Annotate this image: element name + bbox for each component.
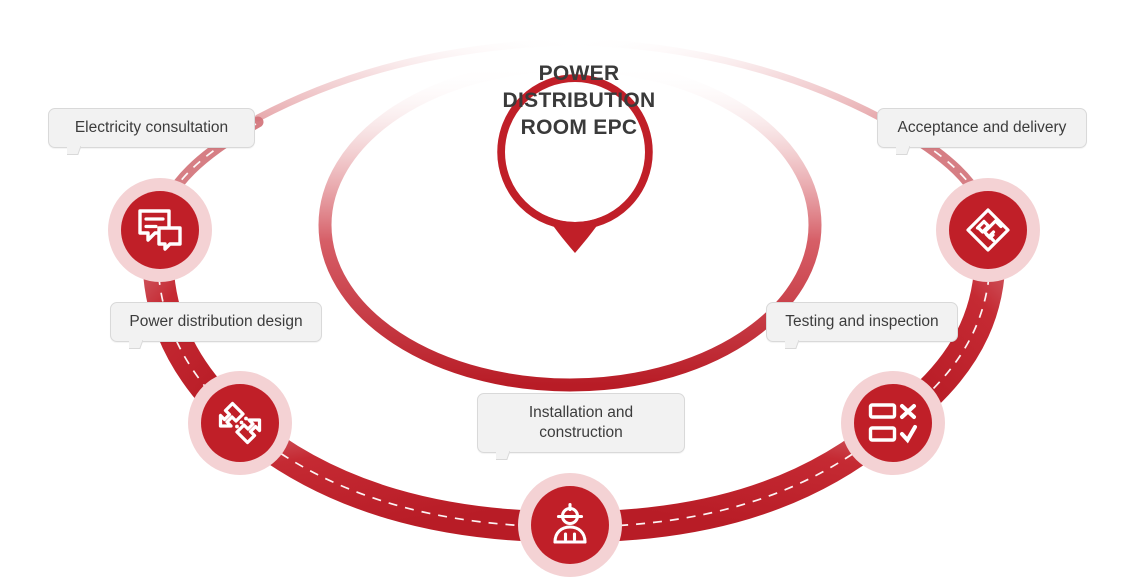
label-installation-construction[interactable]: Installation and construction (477, 393, 685, 453)
step-node-acceptance-delivery[interactable] (936, 178, 1040, 282)
label-electricity-consultation[interactable]: Electricity consultation (48, 108, 255, 148)
step-node-power-distribution-design[interactable] (188, 371, 292, 475)
label-text: Testing and inspection (785, 313, 938, 330)
label-text: Installation and construction (529, 404, 633, 441)
label-text: Power distribution design (129, 313, 302, 330)
callout-tail (496, 451, 510, 471)
callout-tail (67, 146, 81, 166)
step-node-testing-inspection[interactable] (841, 371, 945, 475)
callout-tail (129, 340, 143, 360)
step-node-installation-construction[interactable] (518, 473, 622, 577)
step-node-electricity-consultation[interactable] (108, 178, 212, 282)
handshake-diamond-icon (949, 191, 1027, 269)
label-acceptance-delivery[interactable]: Acceptance and delivery (877, 108, 1087, 148)
construction-worker-icon (531, 486, 609, 564)
callout-tail (896, 146, 910, 166)
label-text: Electricity consultation (75, 119, 228, 136)
label-power-distribution-design[interactable]: Power distribution design (110, 302, 322, 342)
process-diagram: POWER DISTRIBUTION ROOM EPC (0, 0, 1139, 587)
map-pin-marker (500, 77, 650, 255)
label-text: Acceptance and delivery (898, 119, 1067, 136)
callout-tail (785, 340, 799, 360)
label-testing-inspection[interactable]: Testing and inspection (766, 302, 958, 342)
chat-bubbles-icon (121, 191, 199, 269)
ruler-diagonal-icon (201, 384, 279, 462)
checklist-icon (854, 384, 932, 462)
